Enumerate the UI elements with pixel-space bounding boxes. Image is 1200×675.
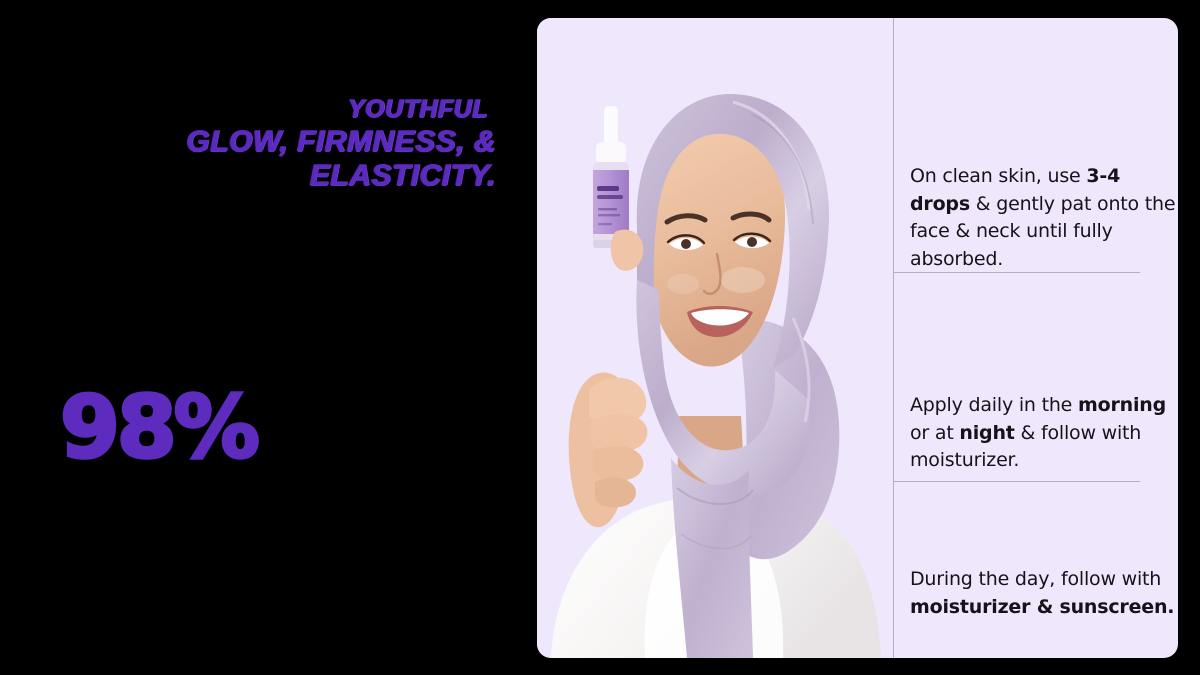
stat-block: 98% <box>60 382 257 474</box>
left-column: YOUTHFUL GLOW, FIRMNESS, & ELASTICITY. 9… <box>0 0 537 675</box>
step-1-text: On clean skin, use 3-4 drops & gently pa… <box>910 163 1178 273</box>
headline-line-2: GLOW, FIRMNESS, & ELASTICITY. <box>0 125 500 193</box>
stat-percentage-value: 98% <box>60 382 257 474</box>
model-illustration <box>537 18 893 658</box>
step-item-3: During the day, follow with moisturizer … <box>910 566 1178 621</box>
how-to-use-panel: how to use <box>537 18 1178 658</box>
headline-line-1: YOUTHFUL <box>0 96 500 123</box>
step-item-2: Apply daily in the morning or at night &… <box>910 392 1178 475</box>
steps-column: On clean skin, use 3-4 drops & gently pa… <box>893 18 1178 658</box>
headline-block: YOUTHFUL GLOW, FIRMNESS, & ELASTICITY. <box>0 96 500 193</box>
step-divider-2 <box>893 481 1140 482</box>
step-3-text: During the day, follow with moisturizer … <box>910 566 1178 621</box>
step-2-text: Apply daily in the morning or at night &… <box>910 392 1178 475</box>
model-product-image <box>537 18 893 658</box>
slide-canvas: YOUTHFUL GLOW, FIRMNESS, & ELASTICITY. 9… <box>0 0 1200 675</box>
step-divider-1 <box>893 272 1140 273</box>
step-item-1: On clean skin, use 3-4 drops & gently pa… <box>910 163 1178 273</box>
